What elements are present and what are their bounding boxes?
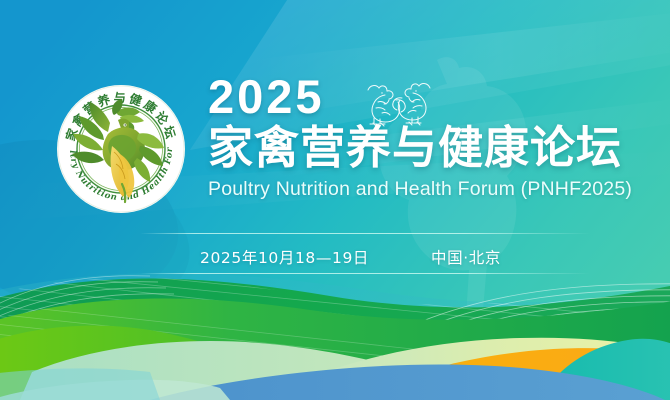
banner-year: 2025 (208, 72, 638, 121)
banner-title-cn: 家禽营养与健康论坛 (208, 123, 638, 173)
divider-top (140, 233, 590, 234)
poultry-forum-banner: 家禽营养与健康论坛 Poultry Nutrition and Health F… (0, 0, 670, 400)
banner-text-block: 2025 家禽营养与健康论坛 Poultry Nutrition and Hea… (208, 72, 638, 201)
banner-title-en: Poultry Nutrition and Health Forum (PNHF… (208, 178, 638, 201)
event-date: 2025年10月18—19日 (200, 246, 369, 268)
event-location: 中国·北京 (431, 246, 501, 268)
divider-bottom (140, 273, 590, 274)
forum-logo[interactable]: 家禽营养与健康论坛 Poultry Nutrition and Health F… (56, 84, 186, 214)
banner-meta: 2025年10月18—19日 中国·北京 (200, 246, 501, 268)
